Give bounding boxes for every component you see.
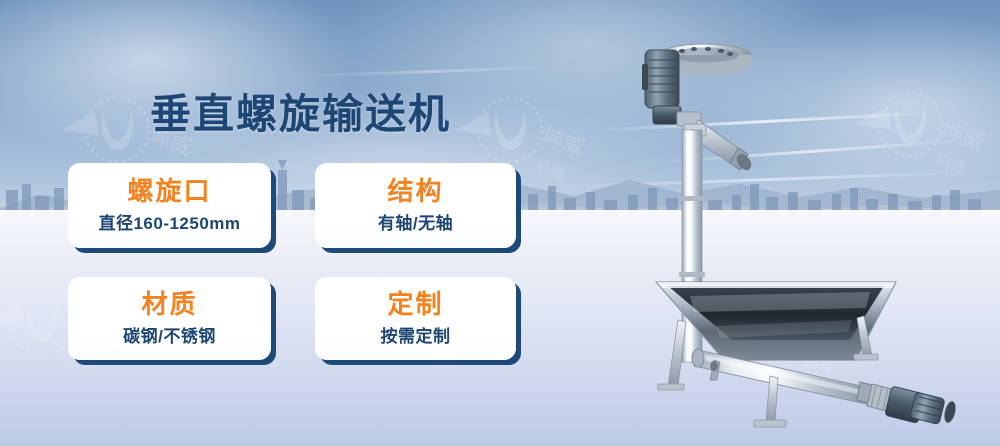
spec-card-structure[interactable]: 结构 有轴/无轴 [315,163,516,248]
spec-card-title: 定制 [387,290,443,320]
spec-card-subtitle: 直径160-1250mm [98,214,240,234]
spec-card-subtitle: 碳钢/不锈钢 [123,327,216,347]
product-image-vertical-screw-conveyor [620,20,1000,440]
product-banner: 坤威 机械 坤威 机械 坤威 机械 坤威 机械 [0,0,1000,446]
page-title: 垂直螺旋输送机 [150,80,451,140]
spec-card-material[interactable]: 材质 碳钢/不锈钢 [68,277,271,360]
spec-card-screw-opening[interactable]: 螺旋口 直径160-1250mm [68,163,271,248]
spec-card-title: 材质 [141,290,197,320]
spec-card-customization[interactable]: 定制 按需定制 [315,277,516,360]
cloud-streak-decoration [300,65,560,77]
spec-card-title: 螺旋口 [127,177,211,207]
spec-card-subtitle: 按需定制 [381,327,451,347]
spec-card-title: 结构 [387,177,443,207]
spec-card-subtitle: 有轴/无轴 [378,214,453,234]
